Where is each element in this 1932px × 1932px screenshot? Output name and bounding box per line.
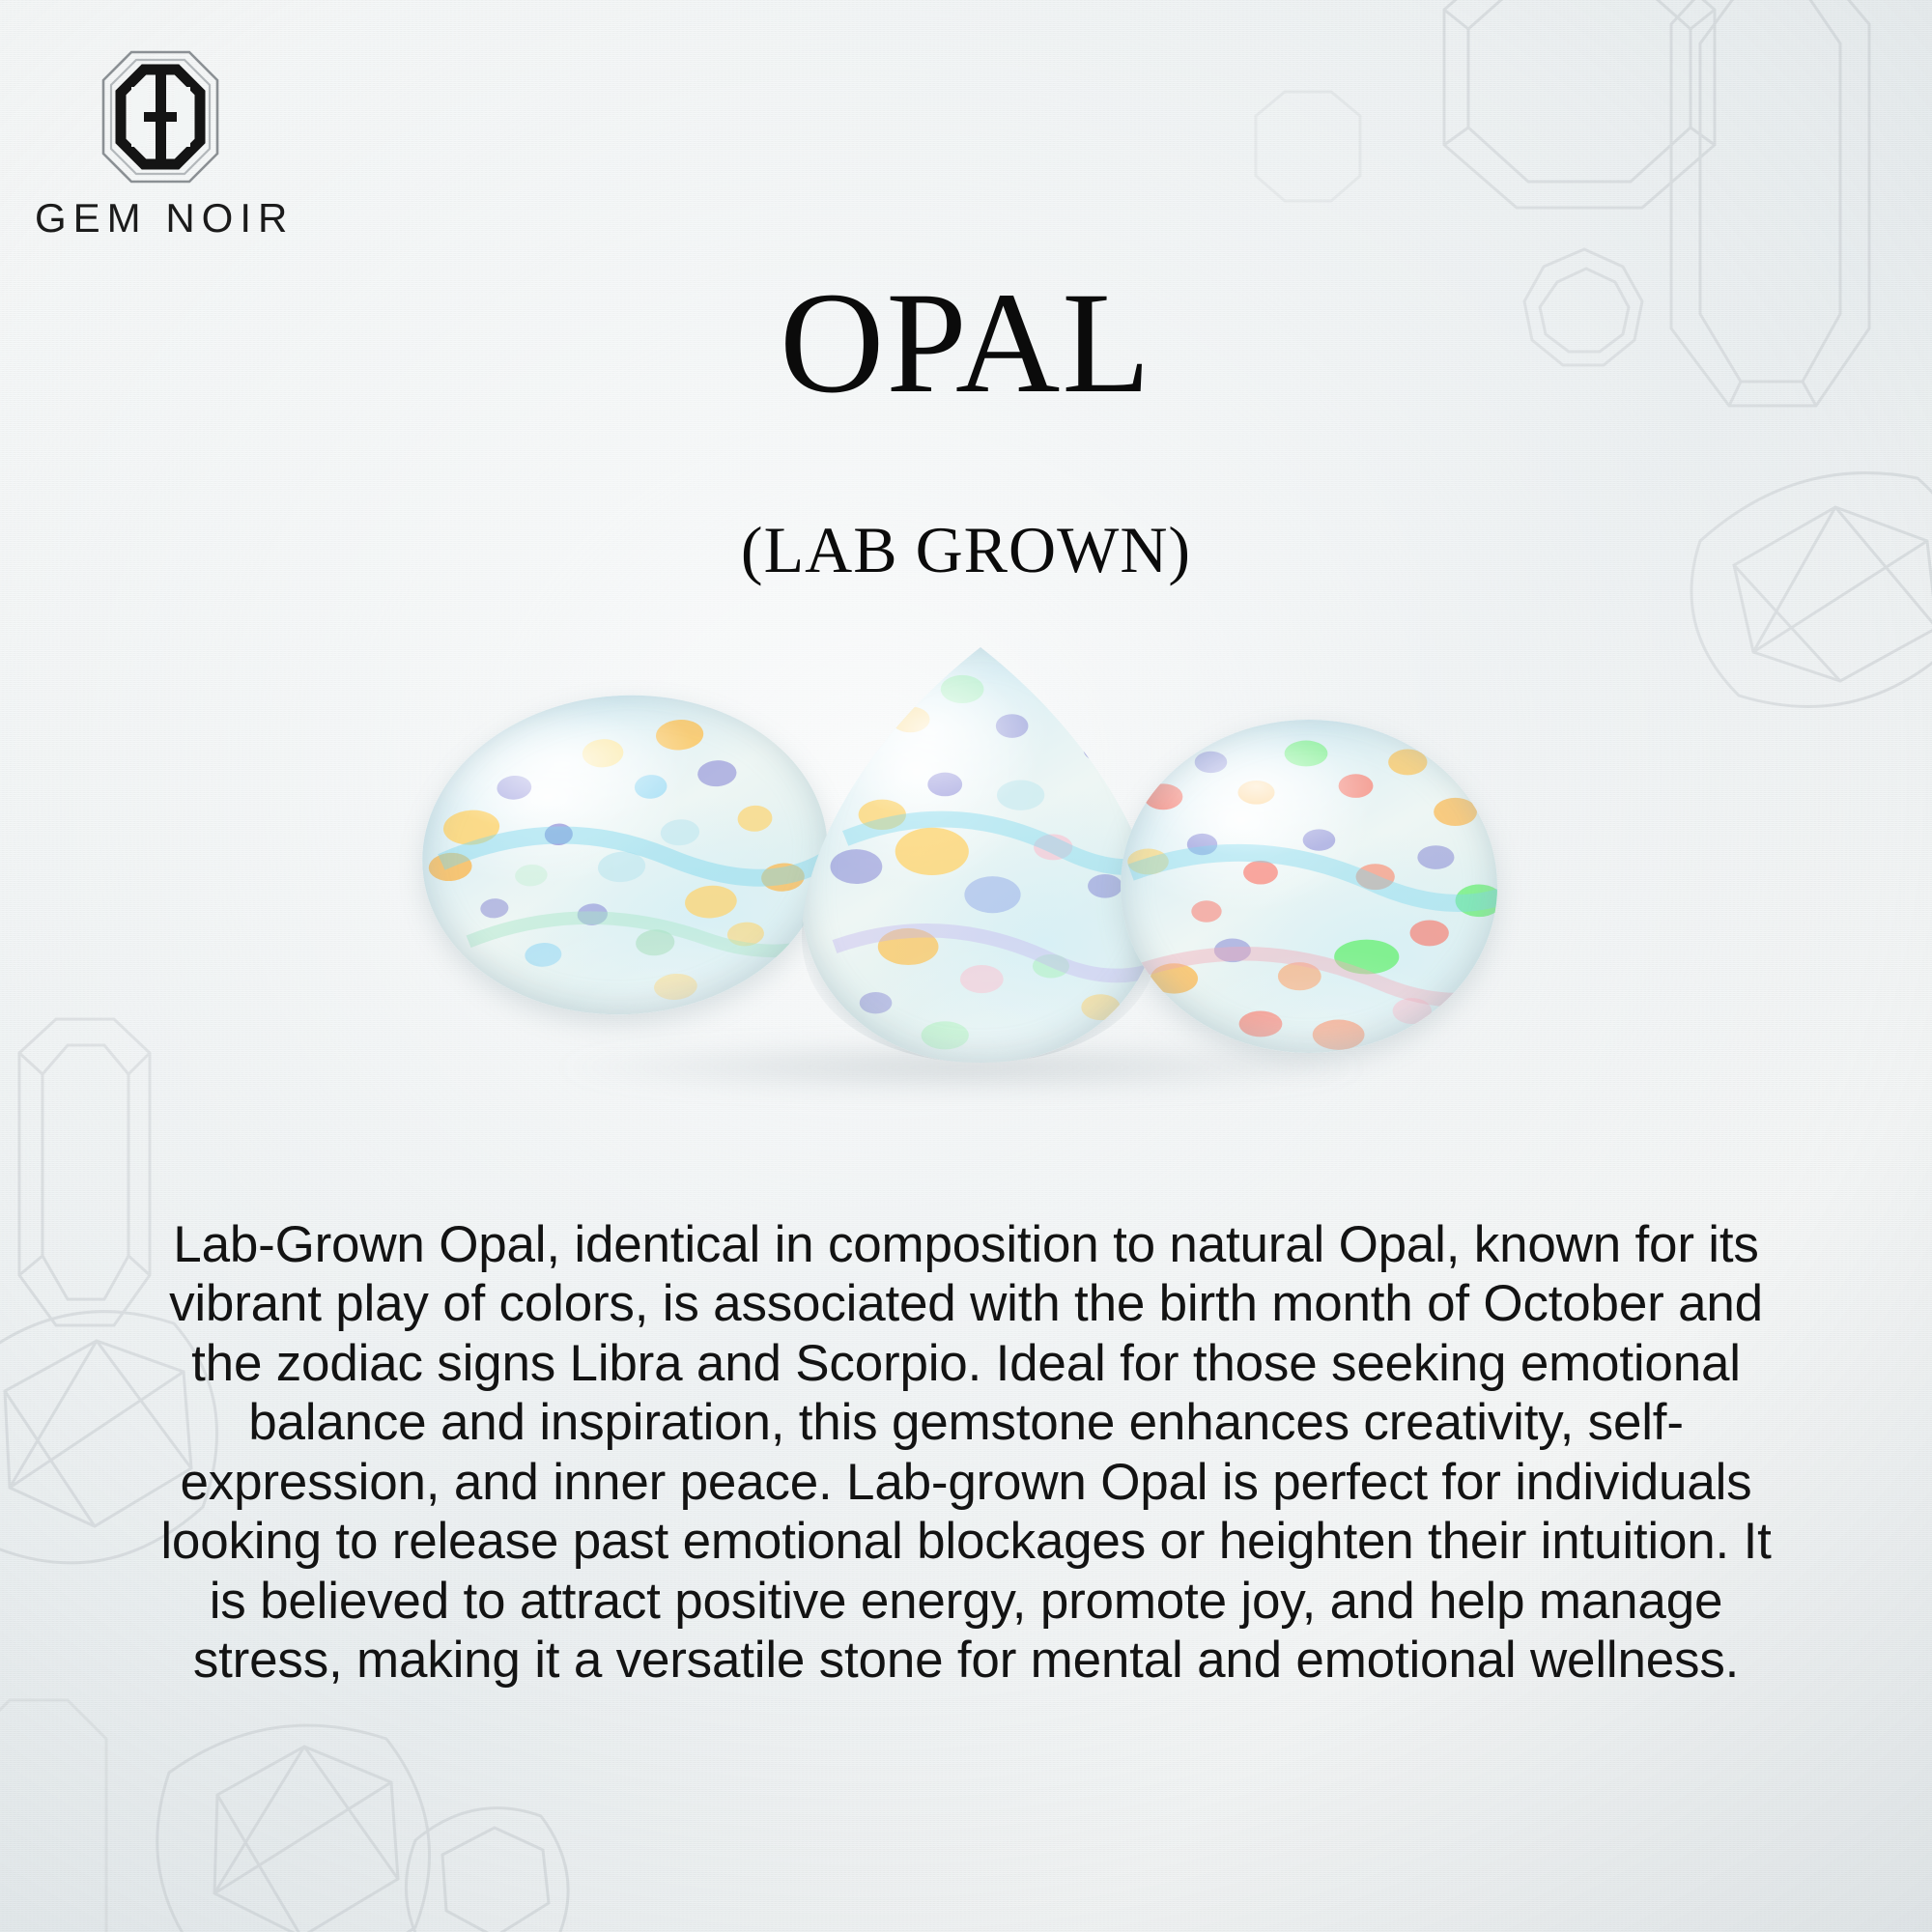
gemstone-group: [0, 618, 1932, 1121]
octagon-gem-monogram-icon: [99, 48, 221, 185]
brand-logo[interactable]: GEM NOIR: [35, 48, 286, 241]
gem-round-cabochon-right: [1121, 720, 1497, 1053]
gem-pear-cabochon-center: [802, 647, 1159, 1063]
poster-canvas: GEM NOIR OPAL (LAB GROWN): [0, 0, 1932, 1932]
gem-oval-cabochon-left: [412, 682, 838, 1028]
page-title: OPAL: [0, 270, 1932, 415]
brand-wordmark: GEM NOIR: [35, 195, 286, 241]
page-subtitle: (LAB GROWN): [0, 517, 1932, 582]
description-paragraph: Lab-Grown Opal, identical in composition…: [145, 1215, 1787, 1690]
